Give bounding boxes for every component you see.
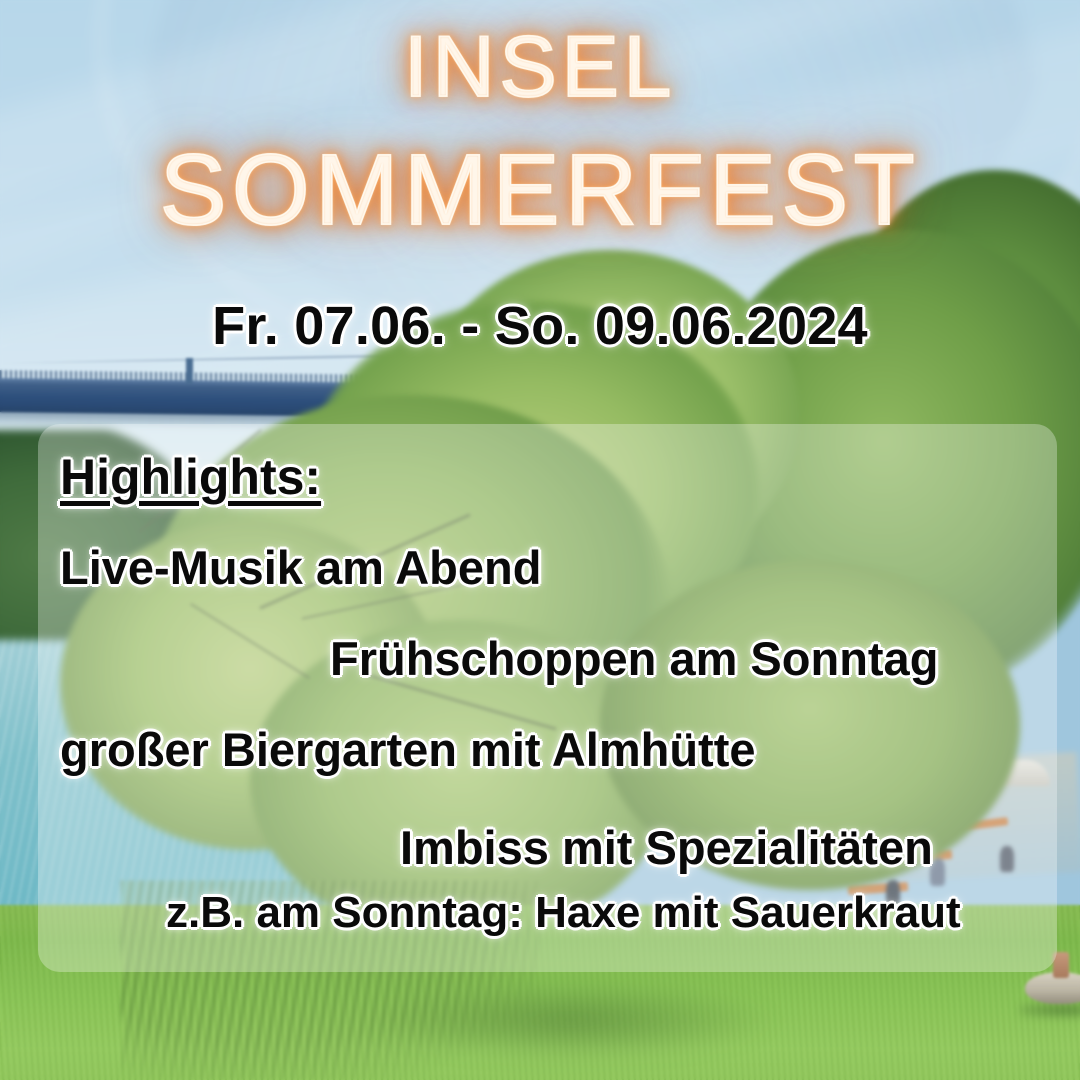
highlight-item-biergarten: großer Biergarten mit Almhütte (60, 722, 756, 777)
highlight-item-imbiss: Imbiss mit Spezialitäten (400, 820, 933, 875)
poster-title-line2: SOMMERFEST (0, 140, 1080, 240)
bridge-pylon (186, 358, 193, 384)
event-date-line: Fr. 07.06. - So. 09.06.2024 (0, 295, 1080, 357)
highlight-item-music: Live-Musik am Abend (60, 540, 541, 595)
highlight-item-fruehschoppen: Frühschoppen am Sonntag (330, 631, 938, 686)
highlights-heading: Highlights: (60, 448, 321, 506)
stone-planter (1025, 972, 1080, 1004)
highlight-item-haxe: z.B. am Sonntag: Haxe mit Sauerkraut (166, 888, 961, 938)
event-poster: INSEL INSEL SOMMERFEST SOMMERFEST Fr. 07… (0, 0, 1080, 1080)
poster-title-line1: INSEL (0, 24, 1080, 110)
